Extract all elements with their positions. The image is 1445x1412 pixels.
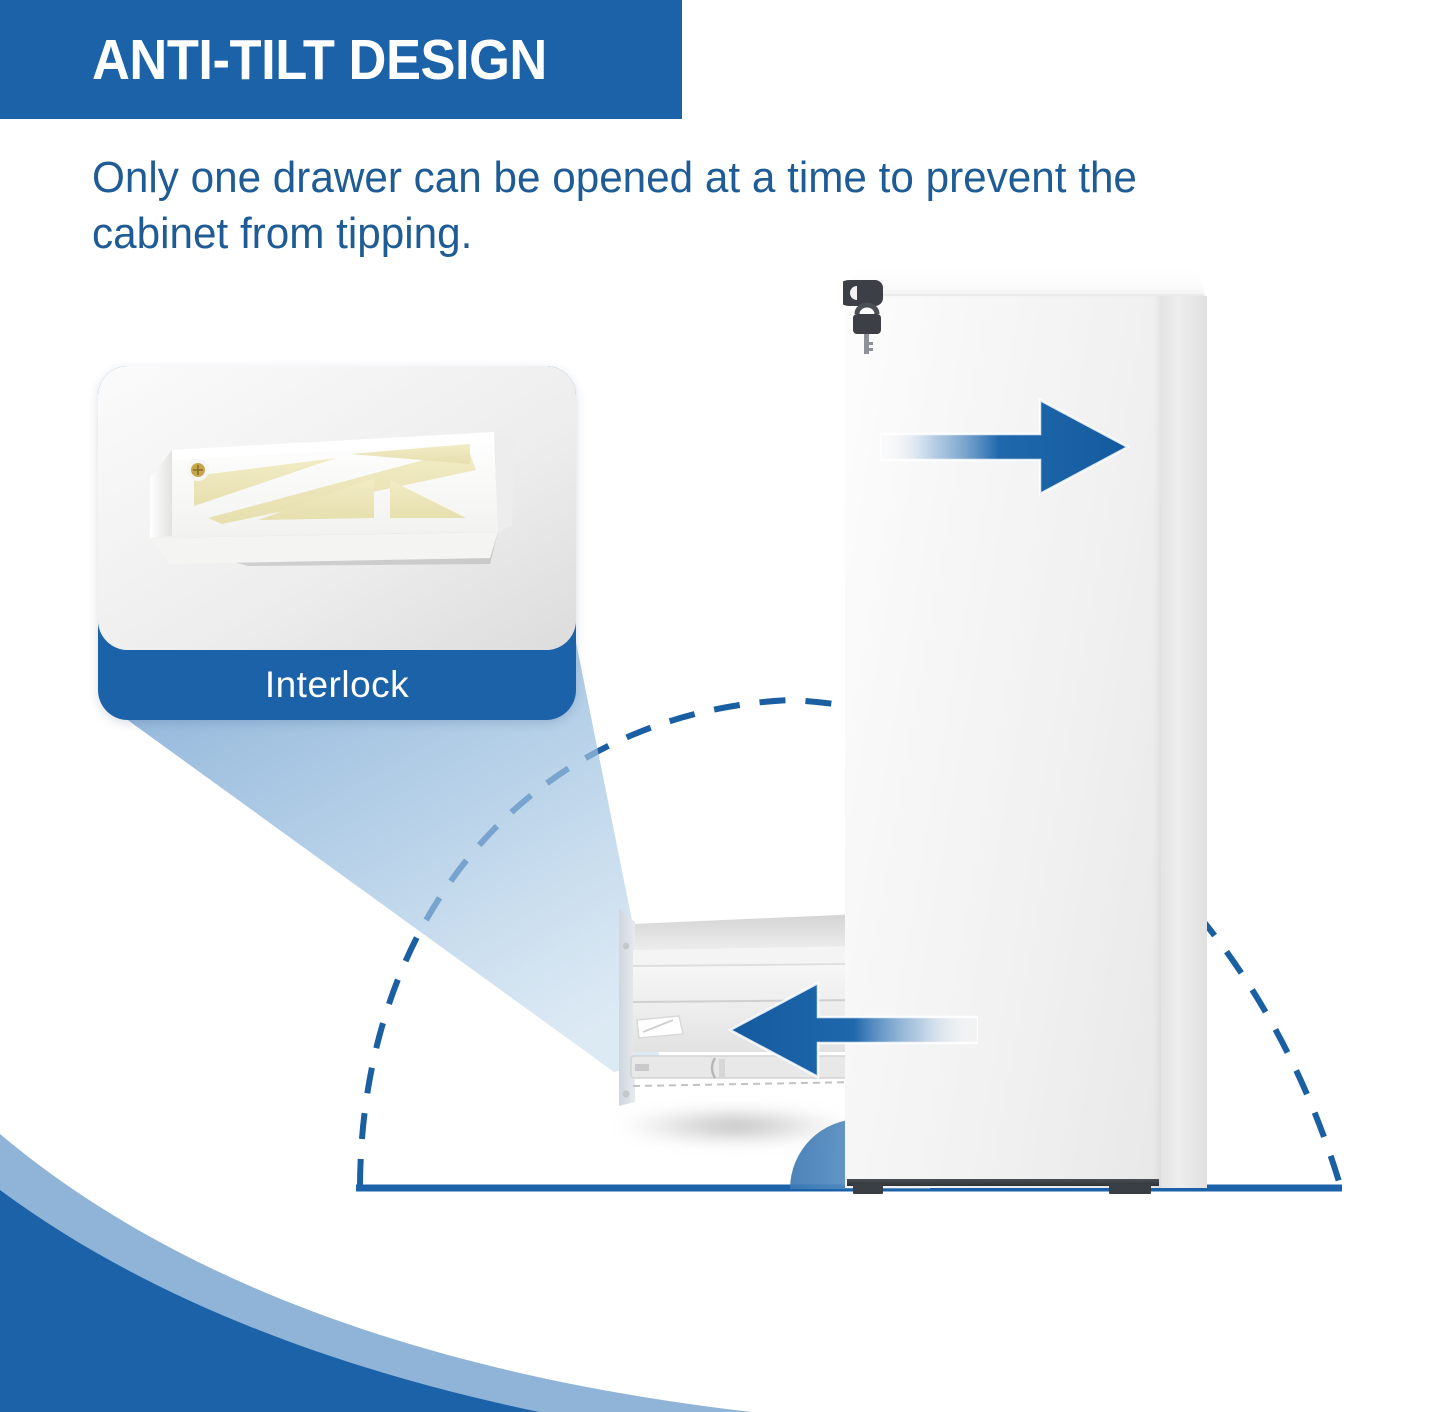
swoosh-dark-band xyxy=(0,1190,1445,1412)
drawer-slide-rail xyxy=(631,1056,861,1078)
infographic-canvas: ANTI-TILT DESIGN Only one drawer can be … xyxy=(0,0,1445,1412)
subtitle-text: Only one drawer can be opened at a time … xyxy=(92,150,1138,263)
interlock-label: Interlock xyxy=(98,650,576,720)
swoosh-light-band xyxy=(0,1134,1445,1412)
lock-cylinder xyxy=(843,280,883,306)
cabinet-front-panel xyxy=(845,296,1161,1188)
interlock-part-illustration xyxy=(98,366,576,650)
page-title: ANTI-TILT DESIGN xyxy=(92,27,547,93)
lock-and-key-icon xyxy=(843,274,901,362)
interlock-callout-card: Interlock xyxy=(98,366,576,720)
cabinet-foot-right xyxy=(1109,1184,1151,1194)
open-drawer xyxy=(611,906,861,1118)
drawer-bottom-edge xyxy=(633,1082,859,1086)
header-banner: ANTI-TILT DESIGN xyxy=(0,0,682,119)
filing-cabinet xyxy=(841,268,1211,1188)
key-shackle xyxy=(857,305,877,314)
interlock-photo xyxy=(98,366,576,650)
bottom-swoosh xyxy=(0,1112,1445,1412)
drawer-label-tag xyxy=(637,1016,683,1038)
drawer-front-face xyxy=(633,966,861,1052)
key-blade xyxy=(864,334,869,354)
cabinet-foot-left xyxy=(853,1184,883,1194)
key-head xyxy=(853,314,881,334)
cabinet-side-panel xyxy=(1161,296,1207,1188)
